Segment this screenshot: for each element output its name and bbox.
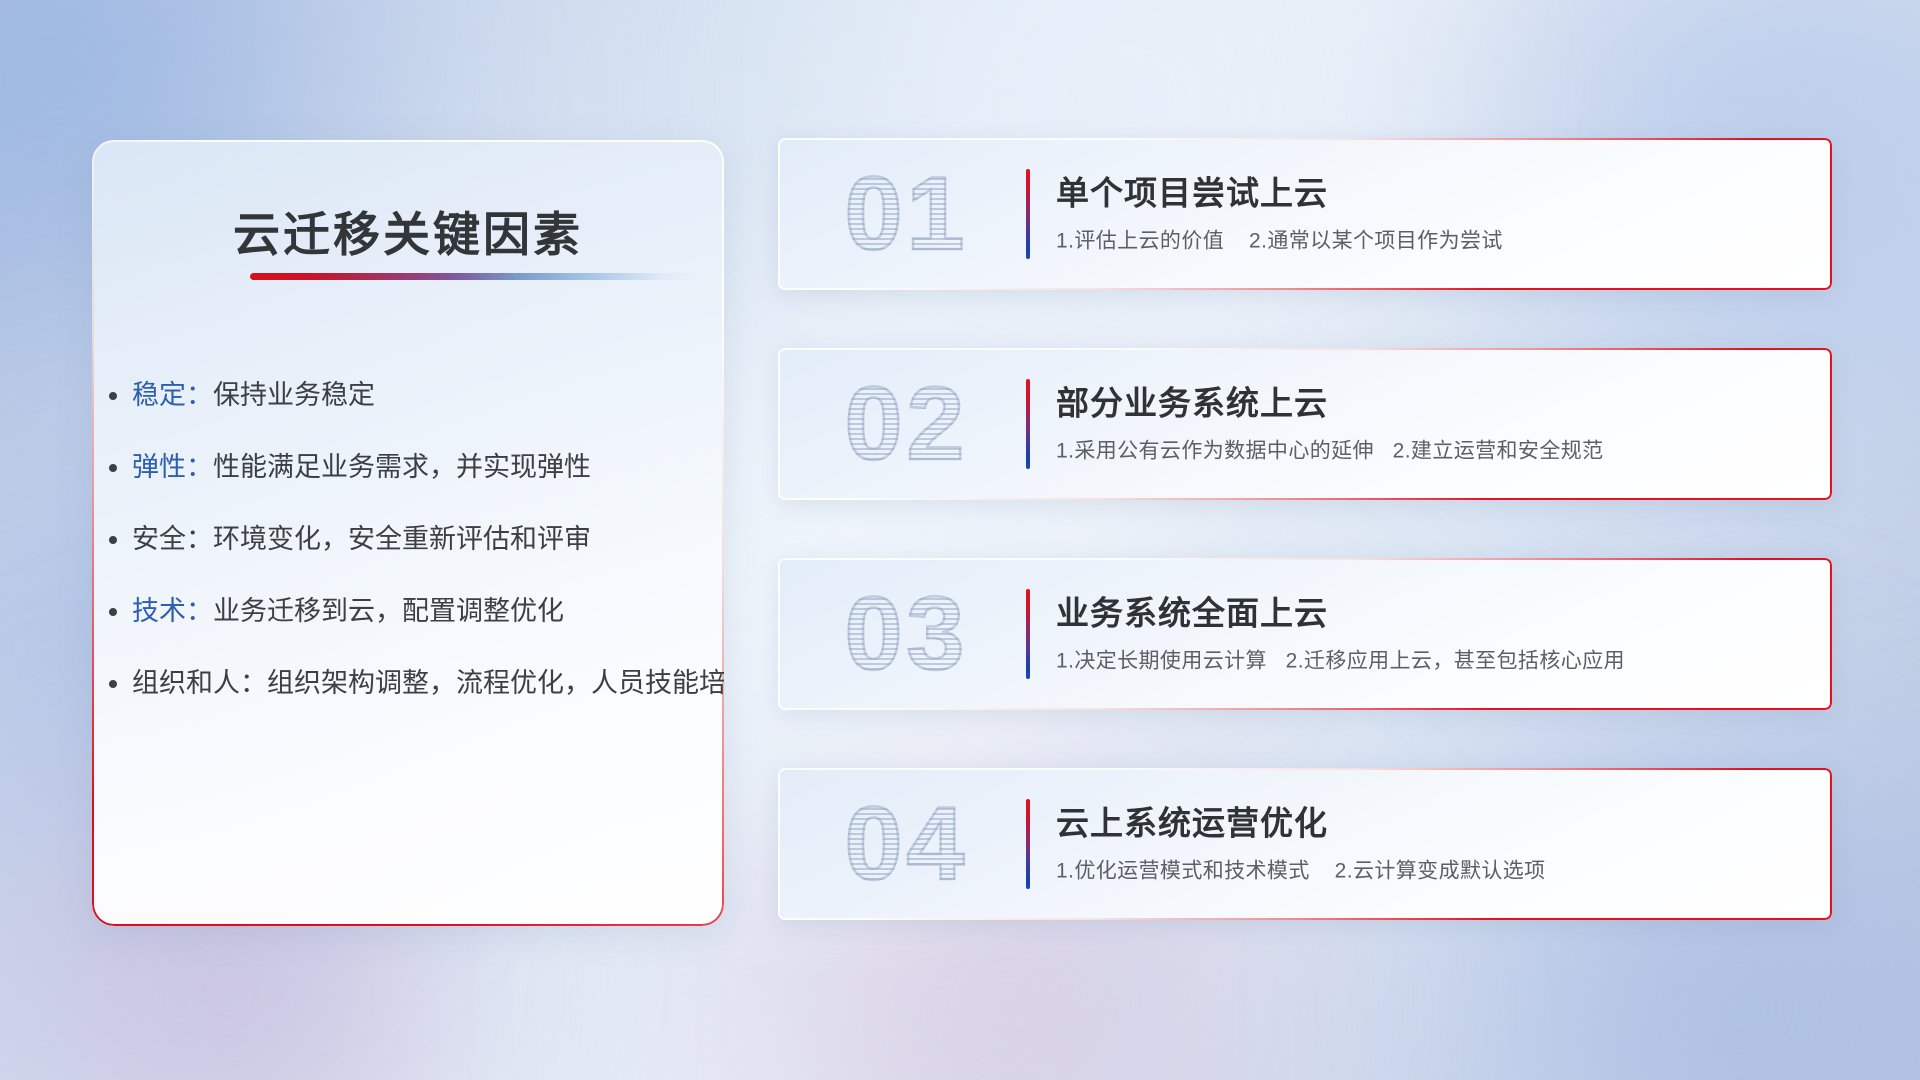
stage-number: 03 xyxy=(814,578,999,690)
title-underline-accent xyxy=(250,273,700,280)
key-factor-item: 安全：环境变化，安全重新评估和评审 xyxy=(132,526,696,553)
key-factor-value: 环境变化，安全重新评估和评审 xyxy=(213,524,591,554)
stage-card-body: 单个项目尝试上云1.评估上云的价值 2.通常以某个项目作为尝试 xyxy=(1056,174,1804,253)
stage-title: 单个项目尝试上云 xyxy=(1056,174,1804,213)
stage-card-body: 业务系统全面上云1.决定长期使用云计算 2.迁移应用上云，甚至包括核心应用 xyxy=(1056,594,1804,673)
key-factor-item: 弹性：性能满足业务需求，并实现弹性 xyxy=(132,454,696,481)
stage-card[interactable]: 01单个项目尝试上云1.评估上云的价值 2.通常以某个项目作为尝试 xyxy=(778,138,1832,290)
stage-title: 云上系统运营优化 xyxy=(1056,804,1804,843)
key-factor-item: 稳定：保持业务稳定 xyxy=(132,382,696,409)
stage-card-body: 云上系统运营优化1.优化运营模式和技术模式 2.云计算变成默认选项 xyxy=(1056,804,1804,883)
key-factor-value: 业务迁移到云，配置调整优化 xyxy=(213,596,564,626)
key-factor-label: 技术： xyxy=(132,596,213,626)
page-title: 云迁移关键因素 xyxy=(92,196,724,265)
stage-title: 部分业务系统上云 xyxy=(1056,384,1804,423)
stage-accent-bar xyxy=(1026,799,1030,889)
stage-card[interactable]: 03业务系统全面上云1.决定长期使用云计算 2.迁移应用上云，甚至包括核心应用 xyxy=(778,558,1832,710)
key-factor-value: 保持业务稳定 xyxy=(213,380,375,410)
stage-description: 1.决定长期使用云计算 2.迁移应用上云，甚至包括核心应用 xyxy=(1056,648,1804,673)
stage-number: 01 xyxy=(814,158,999,270)
key-factors-list: 稳定：保持业务稳定弹性：性能满足业务需求，并实现弹性安全：环境变化，安全重新评估… xyxy=(132,382,696,697)
stage-description: 1.评估上云的价值 2.通常以某个项目作为尝试 xyxy=(1056,228,1804,253)
key-factor-label: 组织和人： xyxy=(132,668,267,698)
stage-accent-bar xyxy=(1026,589,1030,679)
stage-accent-bar xyxy=(1026,169,1030,259)
stage-card[interactable]: 02部分业务系统上云1.采用公有云作为数据中心的延伸 2.建立运营和安全规范 xyxy=(778,348,1832,500)
key-factor-value: 性能满足业务需求，并实现弹性 xyxy=(213,452,591,482)
key-factor-item: 组织和人：组织架构调整，流程优化，人员技能培训 xyxy=(132,670,696,697)
key-factor-value: 组织架构调整，流程优化，人员技能培训 xyxy=(267,668,724,698)
stage-description: 1.采用公有云作为数据中心的延伸 2.建立运营和安全规范 xyxy=(1056,438,1804,463)
stage-description: 1.优化运营模式和技术模式 2.云计算变成默认选项 xyxy=(1056,858,1804,883)
stage-card-body: 部分业务系统上云1.采用公有云作为数据中心的延伸 2.建立运营和安全规范 xyxy=(1056,384,1804,463)
maturity-stage-cards: 01单个项目尝试上云1.评估上云的价值 2.通常以某个项目作为尝试02部分业务系… xyxy=(778,138,1832,920)
key-factor-item: 技术：业务迁移到云，配置调整优化 xyxy=(132,598,696,625)
key-factor-label: 安全： xyxy=(132,524,213,554)
stage-number: 02 xyxy=(814,368,999,480)
stage-accent-bar xyxy=(1026,379,1030,469)
key-factor-label: 稳定： xyxy=(132,380,213,410)
stage-card[interactable]: 04云上系统运营优化1.优化运营模式和技术模式 2.云计算变成默认选项 xyxy=(778,768,1832,920)
stage-number: 04 xyxy=(814,788,999,900)
key-factor-label: 弹性： xyxy=(132,452,213,482)
stage-title: 业务系统全面上云 xyxy=(1056,594,1804,633)
key-factors-panel: 云迁移关键因素 稳定：保持业务稳定弹性：性能满足业务需求，并实现弹性安全：环境变… xyxy=(92,140,724,926)
slide-stage: 云迁移关键因素 稳定：保持业务稳定弹性：性能满足业务需求，并实现弹性安全：环境变… xyxy=(0,0,1920,1080)
